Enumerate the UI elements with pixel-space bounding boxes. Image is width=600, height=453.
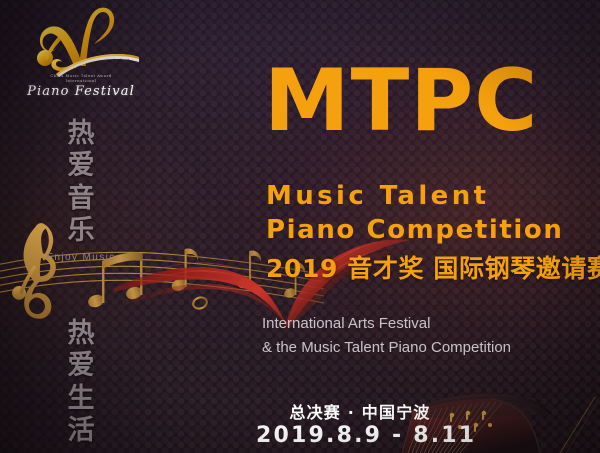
event-venue: 总决赛 · 中国宁波 (260, 399, 460, 423)
slogan-life-char-4: 活 (54, 415, 108, 447)
event-dates: 2019.8.9 - 8.11 (256, 423, 466, 448)
slogan-enjoy-your-life: 热 爱 生 活 Enjoy your life (54, 318, 108, 453)
event-description: International Arts Festival & the Music … (262, 312, 511, 361)
page-title-acronym: MTPC (264, 58, 538, 144)
slogan-music-english: Enjoy Music (38, 252, 124, 263)
subtitle-line-2: Piano Competition (266, 217, 563, 243)
slogan-music-char-2: 爱 (54, 150, 108, 182)
festival-logo: China Music Talent Award International P… (16, 4, 146, 108)
slogan-music-char-3: 音 (54, 183, 108, 215)
slogan-enjoy-music: 热 爱 音 乐 Enjoy Music (54, 118, 108, 263)
chinese-headline: 2019 音才奖 国际钢琴邀请赛 (266, 256, 600, 281)
stylized-m-piano-keys-icon (22, 4, 140, 78)
slogan-life-char-1: 热 (54, 318, 108, 350)
slogan-life-char-2: 爱 (54, 350, 108, 382)
subtitle-line-1: Music Talent (266, 183, 489, 209)
slogan-life-char-3: 生 (54, 383, 108, 415)
logo-caption: China Music Talent Award International (16, 74, 146, 84)
logo-caption-line1: China Music Talent Award (50, 74, 111, 78)
slogan-music-char-4: 乐 (54, 215, 108, 247)
logo-name: Piano Festival (16, 84, 146, 99)
slogan-music-char-1: 热 (54, 118, 108, 150)
poster-canvas: China Music Talent Award International P… (0, 0, 600, 453)
logo-caption-line2: International (66, 79, 97, 83)
description-line-1: International Arts Festival (262, 312, 511, 336)
